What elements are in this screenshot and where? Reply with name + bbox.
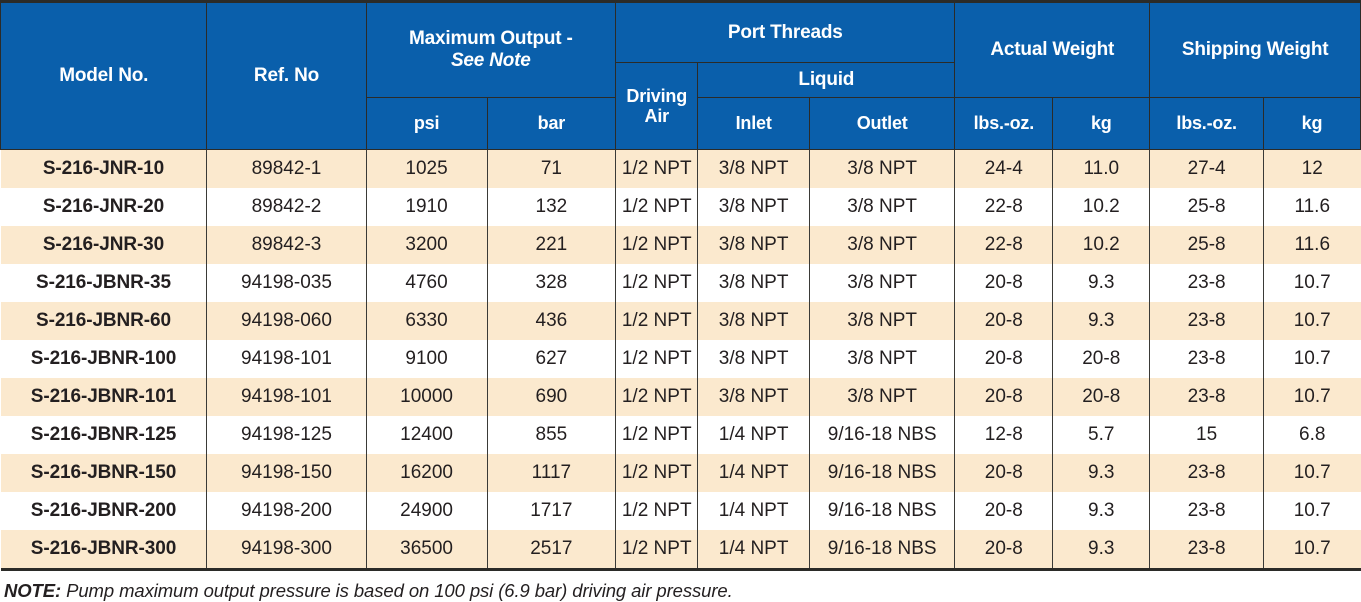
cell-ref-no: 89842-2 [207,188,366,226]
cell-actual-lbs-oz: 20-8 [955,454,1053,492]
cell-inlet: 3/8 NPT [698,378,810,416]
table-row: S-216-JBNR-10194198-101100006901/2 NPT3/… [1,378,1361,416]
table-row: S-216-JNR-2089842-219101321/2 NPT3/8 NPT… [1,188,1361,226]
table-row: S-216-JBNR-30094198-3003650025171/2 NPT1… [1,530,1361,570]
cell-model-no: S-216-JNR-20 [1,188,207,226]
cell-actual-lbs-oz: 22-8 [955,188,1053,226]
cell-bar: 2517 [487,530,616,570]
cell-driving-air: 1/2 NPT [616,226,698,264]
header-actual-weight: Actual Weight [955,2,1150,98]
cell-shipping-lbs-oz: 23-8 [1150,530,1264,570]
header-liquid: Liquid [698,63,955,98]
cell-ref-no: 89842-3 [207,226,366,264]
cell-model-no: S-216-JBNR-100 [1,340,207,378]
cell-model-no: S-216-JNR-30 [1,226,207,264]
cell-shipping-lbs-oz: 25-8 [1150,226,1264,264]
cell-inlet: 3/8 NPT [698,226,810,264]
cell-driving-air: 1/2 NPT [616,150,698,189]
cell-model-no: S-216-JBNR-101 [1,378,207,416]
cell-inlet: 3/8 NPT [698,302,810,340]
cell-ref-no: 94198-101 [207,340,366,378]
footnote-text: Pump maximum output pressure is based on… [61,580,733,601]
cell-bar: 436 [487,302,616,340]
cell-inlet: 1/4 NPT [698,492,810,530]
cell-psi: 36500 [366,530,487,570]
table-row: S-216-JNR-1089842-11025711/2 NPT3/8 NPT3… [1,150,1361,189]
cell-inlet: 1/4 NPT [698,416,810,454]
cell-driving-air: 1/2 NPT [616,454,698,492]
cell-actual-lbs-oz: 20-8 [955,264,1053,302]
cell-shipping-kg: 10.7 [1263,340,1360,378]
header-driving-air: Driving Air [616,63,698,150]
cell-ref-no: 94198-125 [207,416,366,454]
header-maximum-output: Maximum Output - See Note [366,2,616,98]
cell-actual-kg: 10.2 [1053,188,1150,226]
cell-psi: 1910 [366,188,487,226]
cell-driving-air: 1/2 NPT [616,416,698,454]
cell-shipping-kg: 10.7 [1263,302,1360,340]
cell-shipping-lbs-oz: 23-8 [1150,492,1264,530]
cell-ref-no: 94198-101 [207,378,366,416]
cell-outlet: 9/16-18 NBS [809,492,954,530]
cell-shipping-kg: 11.6 [1263,188,1360,226]
cell-bar: 132 [487,188,616,226]
cell-actual-kg: 20-8 [1053,378,1150,416]
cell-shipping-kg: 10.7 [1263,492,1360,530]
table-row: S-216-JBNR-3594198-03547603281/2 NPT3/8 … [1,264,1361,302]
cell-shipping-kg: 6.8 [1263,416,1360,454]
cell-actual-kg: 9.3 [1053,530,1150,570]
cell-actual-lbs-oz: 20-8 [955,340,1053,378]
cell-driving-air: 1/2 NPT [616,378,698,416]
header-inlet: Inlet [698,98,810,150]
cell-actual-lbs-oz: 22-8 [955,226,1053,264]
cell-actual-kg: 11.0 [1053,150,1150,189]
cell-inlet: 1/4 NPT [698,530,810,570]
cell-outlet: 9/16-18 NBS [809,530,954,570]
cell-shipping-lbs-oz: 15 [1150,416,1264,454]
cell-outlet: 3/8 NPT [809,188,954,226]
cell-inlet: 1/4 NPT [698,454,810,492]
cell-driving-air: 1/2 NPT [616,264,698,302]
cell-actual-lbs-oz: 20-8 [955,302,1053,340]
cell-inlet: 3/8 NPT [698,340,810,378]
cell-actual-lbs-oz: 24-4 [955,150,1053,189]
header-maximum-output-line1: Maximum Output - [369,28,614,50]
cell-model-no: S-216-JBNR-125 [1,416,207,454]
cell-actual-lbs-oz: 12-8 [955,416,1053,454]
cell-actual-kg: 9.3 [1053,302,1150,340]
cell-shipping-lbs-oz: 23-8 [1150,454,1264,492]
cell-bar: 328 [487,264,616,302]
cell-model-no: S-216-JBNR-60 [1,302,207,340]
table-row: S-216-JBNR-12594198-125124008551/2 NPT1/… [1,416,1361,454]
header-model-no: Model No. [1,2,207,150]
cell-bar: 71 [487,150,616,189]
table-header: Model No. Ref. No Maximum Output - See N… [1,2,1361,150]
header-outlet: Outlet [809,98,954,150]
cell-psi: 10000 [366,378,487,416]
cell-outlet: 9/16-18 NBS [809,454,954,492]
pump-specification-table: Model No. Ref. No Maximum Output - See N… [0,0,1361,571]
cell-outlet: 3/8 NPT [809,302,954,340]
cell-actual-kg: 5.7 [1053,416,1150,454]
cell-outlet: 3/8 NPT [809,340,954,378]
header-shipping-weight: Shipping Weight [1150,2,1361,98]
cell-actual-kg: 9.3 [1053,264,1150,302]
header-row-1: Model No. Ref. No Maximum Output - See N… [1,2,1361,63]
cell-bar: 1717 [487,492,616,530]
cell-psi: 4760 [366,264,487,302]
cell-bar: 221 [487,226,616,264]
table-body: S-216-JNR-1089842-11025711/2 NPT3/8 NPT3… [1,150,1361,570]
cell-actual-kg: 9.3 [1053,454,1150,492]
cell-inlet: 3/8 NPT [698,150,810,189]
cell-psi: 3200 [366,226,487,264]
cell-ref-no: 94198-060 [207,302,366,340]
cell-driving-air: 1/2 NPT [616,530,698,570]
pump-specification-sheet: Model No. Ref. No Maximum Output - See N… [0,0,1361,590]
cell-psi: 24900 [366,492,487,530]
cell-model-no: S-216-JNR-10 [1,150,207,189]
cell-outlet: 3/8 NPT [809,150,954,189]
cell-shipping-lbs-oz: 25-8 [1150,188,1264,226]
table-row: S-216-JNR-3089842-332002211/2 NPT3/8 NPT… [1,226,1361,264]
table-row: S-216-JBNR-15094198-1501620011171/2 NPT1… [1,454,1361,492]
cell-shipping-kg: 10.7 [1263,530,1360,570]
cell-psi: 1025 [366,150,487,189]
cell-outlet: 3/8 NPT [809,226,954,264]
cell-model-no: S-216-JBNR-35 [1,264,207,302]
cell-outlet: 9/16-18 NBS [809,416,954,454]
cell-shipping-lbs-oz: 23-8 [1150,264,1264,302]
cell-model-no: S-216-JBNR-150 [1,454,207,492]
cell-actual-lbs-oz: 20-8 [955,378,1053,416]
cell-shipping-kg: 11.6 [1263,226,1360,264]
header-psi: psi [366,98,487,150]
cell-actual-kg: 9.3 [1053,492,1150,530]
table-row: S-216-JBNR-10094198-10191006271/2 NPT3/8… [1,340,1361,378]
header-maximum-output-see-note: See Note [369,50,614,72]
cell-shipping-kg: 10.7 [1263,378,1360,416]
cell-driving-air: 1/2 NPT [616,492,698,530]
header-driving-air-line2: Air [618,106,695,126]
cell-driving-air: 1/2 NPT [616,188,698,226]
cell-psi: 12400 [366,416,487,454]
cell-shipping-lbs-oz: 23-8 [1150,378,1264,416]
cell-inlet: 3/8 NPT [698,264,810,302]
cell-bar: 690 [487,378,616,416]
cell-outlet: 3/8 NPT [809,378,954,416]
cell-driving-air: 1/2 NPT [616,340,698,378]
cell-bar: 855 [487,416,616,454]
cell-ref-no: 94198-150 [207,454,366,492]
cell-ref-no: 94198-200 [207,492,366,530]
header-ref-no: Ref. No [207,2,366,150]
cell-shipping-lbs-oz: 23-8 [1150,340,1264,378]
cell-actual-lbs-oz: 20-8 [955,492,1053,530]
table-footnote: NOTE: Pump maximum output pressure is ba… [0,571,1361,602]
cell-ref-no: 89842-1 [207,150,366,189]
cell-shipping-kg: 10.7 [1263,454,1360,492]
cell-ref-no: 94198-035 [207,264,366,302]
table-row: S-216-JBNR-20094198-2002490017171/2 NPT1… [1,492,1361,530]
footnote-label: NOTE: [4,580,61,601]
header-port-threads: Port Threads [616,2,955,63]
cell-model-no: S-216-JBNR-300 [1,530,207,570]
cell-actual-kg: 20-8 [1053,340,1150,378]
cell-outlet: 3/8 NPT [809,264,954,302]
cell-bar: 627 [487,340,616,378]
cell-inlet: 3/8 NPT [698,188,810,226]
cell-actual-lbs-oz: 20-8 [955,530,1053,570]
cell-shipping-kg: 10.7 [1263,264,1360,302]
header-shipping-weight-lbs-oz: lbs.-oz. [1150,98,1264,150]
header-driving-air-line1: Driving [618,86,695,106]
header-bar: bar [487,98,616,150]
header-actual-weight-lbs-oz: lbs.-oz. [955,98,1053,150]
cell-driving-air: 1/2 NPT [616,302,698,340]
cell-actual-kg: 10.2 [1053,226,1150,264]
cell-psi: 16200 [366,454,487,492]
header-shipping-weight-kg: kg [1263,98,1360,150]
table-row: S-216-JBNR-6094198-06063304361/2 NPT3/8 … [1,302,1361,340]
cell-model-no: S-216-JBNR-200 [1,492,207,530]
cell-shipping-lbs-oz: 23-8 [1150,302,1264,340]
cell-shipping-lbs-oz: 27-4 [1150,150,1264,189]
cell-ref-no: 94198-300 [207,530,366,570]
cell-psi: 9100 [366,340,487,378]
cell-bar: 1117 [487,454,616,492]
header-actual-weight-kg: kg [1053,98,1150,150]
cell-psi: 6330 [366,302,487,340]
cell-shipping-kg: 12 [1263,150,1360,189]
